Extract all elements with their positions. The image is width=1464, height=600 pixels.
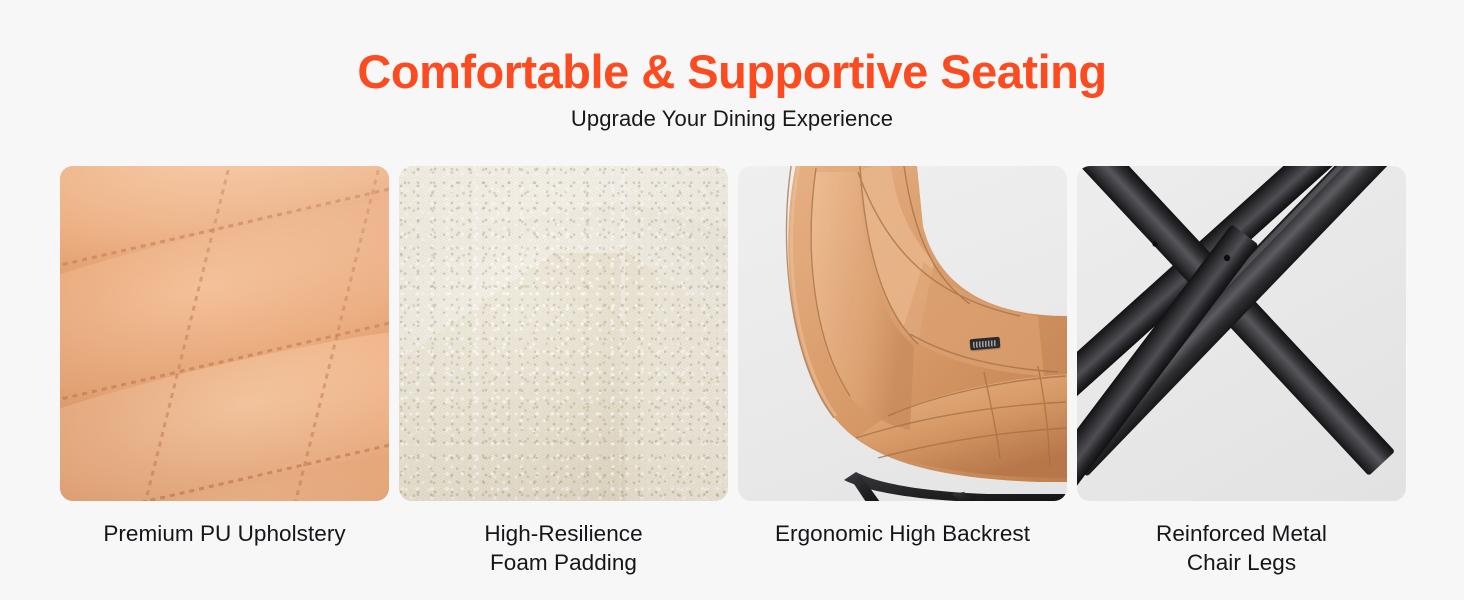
page-subtitle: Upgrade Your Dining Experience: [0, 106, 1464, 132]
feature-caption-line-2: Foam Padding: [490, 550, 637, 575]
feature-card-reinforced-metal-chair-legs: Reinforced Metal Chair Legs: [1077, 166, 1406, 577]
leg-joint-bolt: [1224, 255, 1230, 261]
leg-joint-bolt: [1152, 241, 1157, 246]
feature-caption-line-2: Chair Legs: [1187, 550, 1296, 575]
chair-backrest-image: [738, 166, 1067, 501]
chair-illustration: [738, 166, 1067, 501]
feature-card-premium-pu-upholstery: Premium PU Upholstery: [60, 166, 389, 577]
feature-caption: High-Resilience Foam Padding: [399, 519, 728, 577]
feature-strip: Premium PU Upholstery High-Resilience Fo…: [60, 166, 1404, 577]
header: Comfortable & Supportive Seating Upgrade…: [0, 0, 1464, 132]
page-title: Comfortable & Supportive Seating: [0, 48, 1464, 95]
feature-caption: Reinforced Metal Chair Legs: [1077, 519, 1406, 577]
foam-vignette-overlay: [399, 166, 728, 501]
foam-block-image: [399, 166, 728, 501]
feature-caption-line-1: High-Resilience: [484, 521, 642, 546]
leather-shading-overlay: [60, 166, 389, 501]
feature-caption-line-1: Reinforced Metal: [1156, 521, 1327, 546]
feature-caption: Ergonomic High Backrest: [738, 519, 1067, 548]
feature-card-high-resilience-foam-padding: High-Resilience Foam Padding: [399, 166, 728, 577]
quilted-pu-leather-image: [60, 166, 389, 501]
metal-legs-illustration: [1077, 166, 1406, 501]
feature-caption: Premium PU Upholstery: [60, 519, 389, 548]
crossed-metal-legs-image: [1077, 166, 1406, 501]
feature-card-ergonomic-high-backrest: Ergonomic High Backrest: [738, 166, 1067, 577]
